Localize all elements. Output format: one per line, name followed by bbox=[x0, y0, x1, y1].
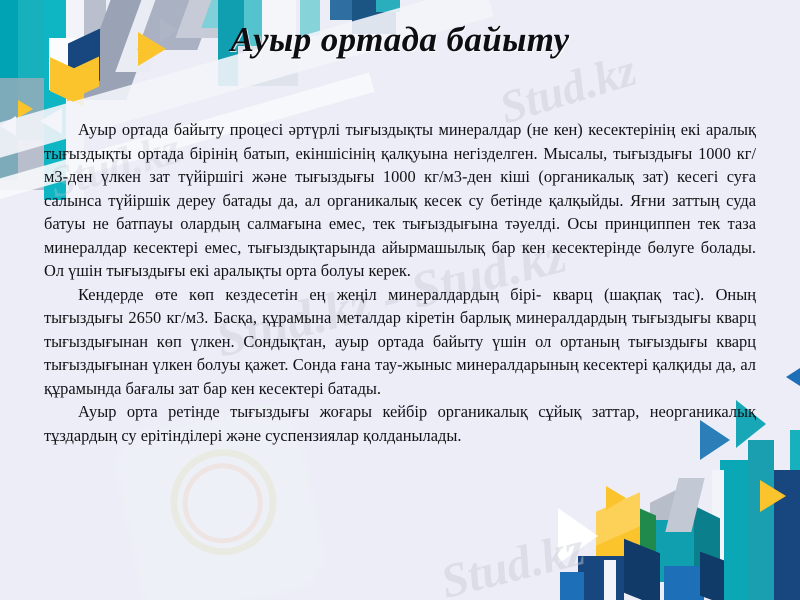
decor-br-triangle-white-1 bbox=[558, 508, 598, 564]
decor-br-triangle-yellow-2 bbox=[606, 486, 626, 510]
decor-br-bar-teal-1 bbox=[720, 460, 748, 600]
slide-canvas: Stud.kz Stud.kz - Stud.kz Stud.kz Stud.k… bbox=[0, 0, 800, 600]
slide-title: Ауыр ортада байыту bbox=[0, 20, 800, 60]
paragraph-1: Ауыр ортада байыту процесі әртүрлі тығыз… bbox=[44, 118, 756, 283]
decor-br-triangle-yellow-1 bbox=[760, 480, 786, 512]
slide-body: Ауыр ортада байыту процесі әртүрлі тығыз… bbox=[44, 118, 756, 447]
decor-right-triangle-blue bbox=[786, 368, 800, 386]
paragraph-2: Кендерде өте көп кездесетін ең жеңіл мин… bbox=[44, 283, 756, 401]
decor-br-bar-navy-3 bbox=[700, 552, 724, 600]
decor-br-bar-teal-2 bbox=[748, 440, 774, 600]
decor-br-bar-blue-2 bbox=[664, 566, 704, 600]
decor-right-bar-teal bbox=[790, 430, 800, 470]
decor-br-bar-blue-1 bbox=[560, 572, 584, 600]
decor-br-bar-white-2 bbox=[604, 560, 616, 600]
paragraph-3: Ауыр орта ретінде тығыздығы жоғары кейбі… bbox=[44, 400, 756, 447]
